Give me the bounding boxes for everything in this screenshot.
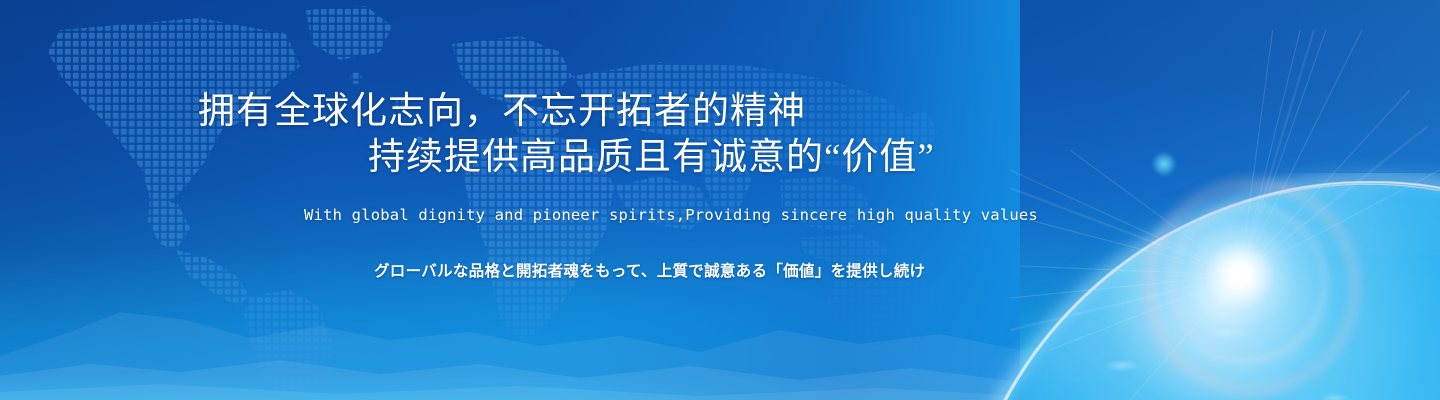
dotted-world-map xyxy=(0,0,1020,400)
headline-line-2: 持续提供高品质且有诚意的“价值” xyxy=(368,139,935,176)
headline-line-1: 拥有全球化志向，不忘开拓者的精神 xyxy=(198,93,806,130)
subtitle-english: With global dignity and pioneer spirits,… xyxy=(304,206,1038,224)
subtitle-japanese: グローバルな品格と開拓者魂をもって、上質で誠意ある「価値」を提供し続け xyxy=(374,259,925,281)
hero-banner: 拥有全球化志向，不忘开拓者的精神 持续提供高品质且有诚意的“价值” With g… xyxy=(0,0,1440,400)
